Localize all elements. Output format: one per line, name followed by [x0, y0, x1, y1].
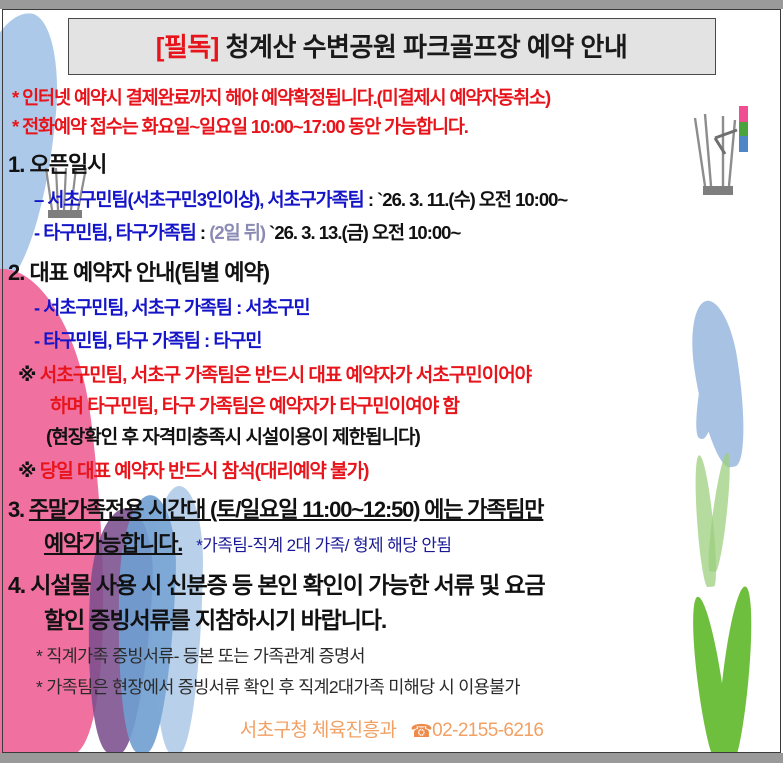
footer-phone-number: 02-2155-6216: [432, 720, 543, 741]
title-box: [필독] 청계산 수변공원 파크골프장 예약 안내: [68, 18, 716, 75]
title-must-read-tag: [필독]: [156, 32, 219, 62]
telephone-icon: ☎: [410, 721, 432, 742]
section2-heading: 2. 대표 예약자 안내(팀별 예약): [8, 255, 783, 287]
section3-line-2: 예약가능합니다.*가족팀-직계 2대 가족/ 형제 해당 안됨: [44, 526, 783, 558]
section3-family-team-note: *가족팀-직계 2대 가족/ 형제 해당 안됨: [196, 536, 451, 555]
section1-item1-team: – 서초구민팀(서초구민3인이상), 서초구가족팀: [34, 189, 364, 210]
section2-item-other: - 타구민팀, 타구 가족팀 : 타구민: [34, 327, 783, 353]
section3-line-2-text: 예약가능합니다.: [44, 531, 182, 556]
section4-line-1: 4. 시설물 사용 시 신분증 등 본인 확인이 가능한 서류 및 요금: [8, 566, 783, 600]
announcement-page: [필독] 청계산 수변공원 파크골프장 예약 안내 * 인터넷 예약시 결제완료…: [0, 0, 783, 763]
section2-item-seocho: - 서초구민팀, 서초구 가족팀 : 서초구민: [34, 294, 783, 320]
section1-item-seocho: – 서초구민팀(서초구민3인이상), 서초구가족팀 : `26. 3. 11.(…: [34, 186, 783, 212]
note-phone-reservation: * 전화예약 접수는 화요일~일요일 10:00~17:00 동안 가능합니다.: [12, 113, 783, 139]
section1-item1-separator: :: [364, 189, 377, 210]
page-title: [필독] 청계산 수변공원 파크골프장 예약 안내: [69, 27, 715, 64]
section2-item2-text: - 타구민팀, 타구 가족팀 : 타구민: [34, 330, 261, 351]
section1-item2-date: `26. 3. 13.(금) 오전 10:00~: [269, 222, 460, 243]
section1-item-other: - 타구민팀, 타구가족팀 : (2일 뒤) `26. 3. 13.(금) 오전…: [34, 219, 783, 245]
window-bottom-bar: [0, 753, 783, 763]
reference-mark-icon-2: ※: [18, 461, 35, 482]
section3-line-1: 3. 주말가족전용 시간대 (토/일요일 11:00~12:50) 에는 가족팀…: [8, 492, 783, 524]
section1-item2-delay-note: (2일 뒤): [209, 222, 265, 243]
document-content: [필독] 청계산 수변공원 파크골프장 예약 안내 * 인터넷 예약시 결제완료…: [0, 9, 783, 742]
section3-number: 3.: [8, 497, 29, 522]
note-internet-payment: * 인터넷 예약시 결제완료까지 해야 예약확정됩니다.(미결제시 예약자동취소…: [12, 84, 783, 110]
section2-warning-1-line-2: 하며 타구민팀, 타구 가족팀은 예약자가 타구민이여야 함: [50, 391, 783, 418]
section4-line-2: 할인 증빙서류를 지참하시기 바랍니다.: [44, 601, 783, 635]
footer-office-name: 서초구청 체육진흥과: [240, 720, 397, 741]
section2-warning-1-line-3: (현장확인 후 자격미충족시 시설이용이 제한됩니다): [46, 422, 783, 449]
section1-item1-date: `26. 3. 11.(수) 오전 10:00~: [377, 189, 567, 210]
section2-warning-1: ※ 서초구민팀, 서초구 가족팀은 반드시 대표 예약자가 서초구민이어야: [18, 360, 783, 387]
title-main-text: 청계산 수변공원 파크골프장 예약 안내: [226, 32, 628, 62]
section2-warning-2-text: 당일 대표 예약자 반드시 참석(대리예약 불가): [40, 461, 369, 482]
section4-sub-1: * 직계가족 증빙서류- 등본 또는 가족관계 증명서: [36, 643, 783, 668]
section1-heading: 1. 오픈일시: [8, 147, 783, 179]
section2-warning-1-line-1: 서초구민팀, 서초구 가족팀은 반드시 대표 예약자가 서초구민이어야: [40, 365, 531, 386]
section2-item1-text: - 서초구민팀, 서초구 가족팀 : 서초구민: [34, 297, 309, 318]
section1-item2-team: - 타구민팀, 타구가족팀: [34, 222, 196, 243]
footer-contact: 서초구청 체육진흥과 ☎02-2155-6216: [0, 715, 783, 742]
window-top-bar: [0, 0, 783, 9]
section1-item2-separator: :: [196, 222, 209, 243]
reference-mark-icon-1: ※: [18, 365, 35, 386]
section4-sub-2: * 가족팀은 현장에서 증빙서류 확인 후 직계2대가족 미해당 시 이용불가: [36, 674, 783, 699]
section3-line-1-text: 주말가족전용 시간대 (토/일요일 11:00~12:50) 에는 가족팀만: [29, 497, 543, 522]
section2-warning-2: ※ 당일 대표 예약자 반드시 참석(대리예약 불가): [18, 456, 783, 483]
